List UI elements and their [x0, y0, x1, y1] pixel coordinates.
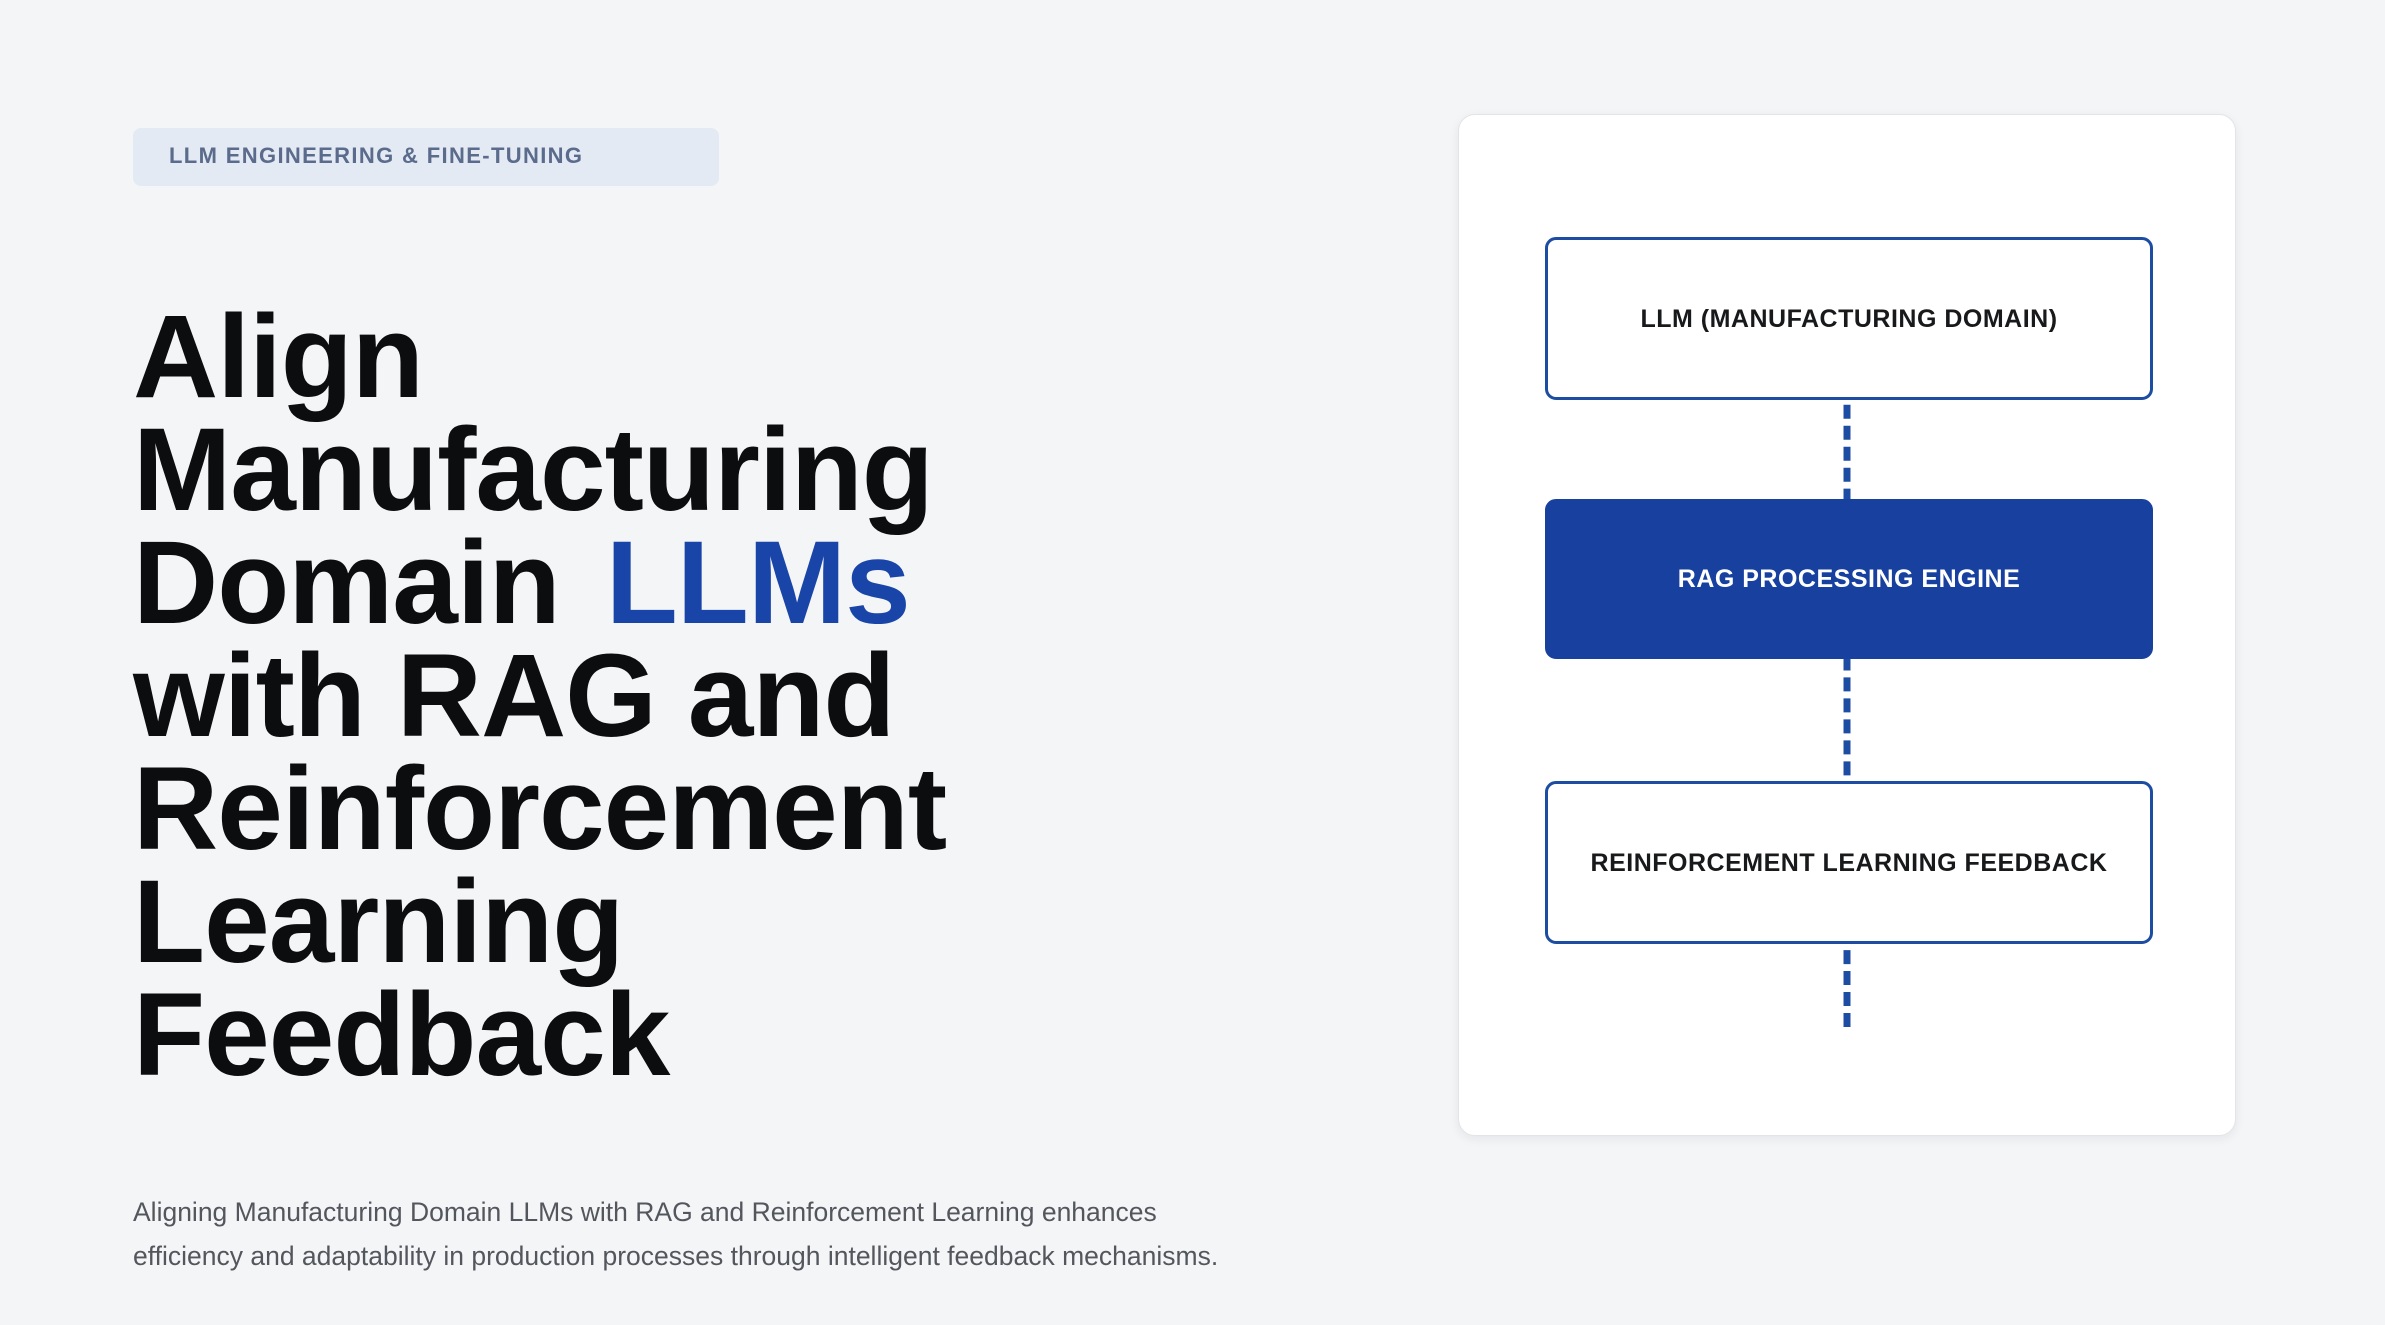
- flow-node-llm-label: LLM (MANUFACTURING DOMAIN): [1640, 304, 2057, 334]
- hero-description: Aligning Manufacturing Domain LLMs with …: [133, 1190, 1248, 1278]
- eyebrow-badge: LLM ENGINEERING & FINE-TUNING: [133, 128, 719, 186]
- flow-node-llm[interactable]: LLM (MANUFACTURING DOMAIN): [1545, 237, 2153, 400]
- slide-root: LLM ENGINEERING & FINE-TUNING Align Manu…: [0, 0, 2385, 1325]
- flow-node-rag[interactable]: RAG PROCESSING ENGINE: [1545, 499, 2153, 659]
- flowchart: LLM (MANUFACTURING DOMAIN) RAG PROCESSIN…: [1459, 115, 2235, 1135]
- flow-node-rlf[interactable]: REINFORCEMENT LEARNING FEEDBACK: [1545, 781, 2153, 944]
- page-title: Align Manufacturing DomainLLMs with RAG …: [133, 301, 1133, 1092]
- headline-line-7: Feedback: [133, 969, 669, 1101]
- diagram-card: LLM (MANUFACTURING DOMAIN) RAG PROCESSIN…: [1458, 114, 2236, 1136]
- flow-node-rag-label: RAG PROCESSING ENGINE: [1678, 564, 2021, 594]
- flow-node-rlf-label: REINFORCEMENT LEARNING FEEDBACK: [1591, 848, 2108, 878]
- hero-text-column: LLM ENGINEERING & FINE-TUNING Align Manu…: [133, 128, 1293, 1278]
- eyebrow-label: LLM ENGINEERING & FINE-TUNING: [169, 145, 683, 167]
